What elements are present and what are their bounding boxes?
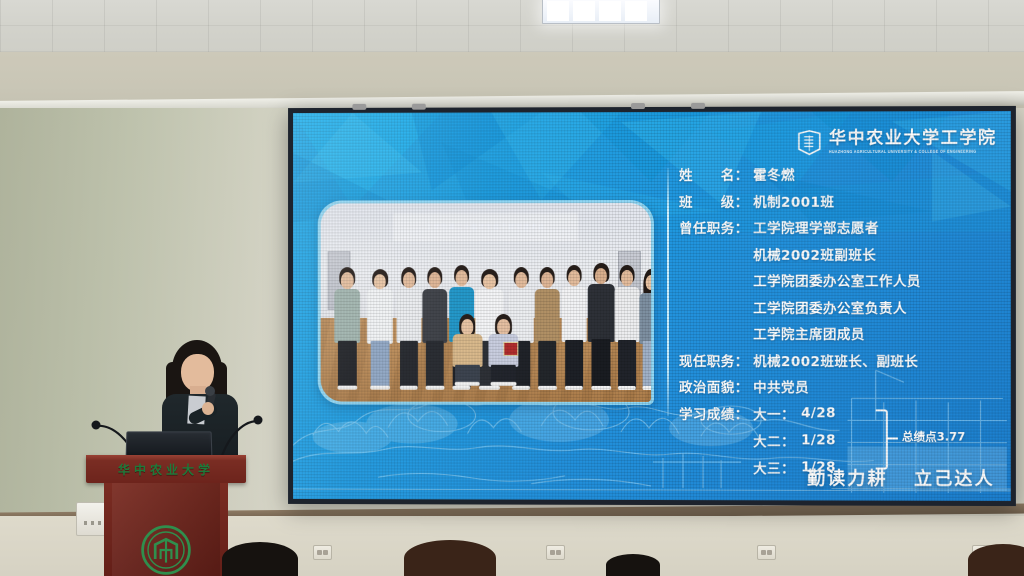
student-info-block: 姓 名： 霍冬燃 班 级： 机制2001班 曾任职务： 工学院理学部志愿者 机械… [679,163,1011,484]
value-class: 机制2001班 [753,190,834,210]
grade-year-1: 大一： [753,403,795,423]
grade-rank-1: 4/28 [801,405,836,421]
photo-person [535,267,560,390]
hzau-crest-icon [139,523,193,576]
label-political-status: 政治面貌： [679,376,753,396]
photo-banner-text: 工学院第二十届学生会干部竞选大会 [393,213,578,241]
info-row-current-role: 现任职务： 机械2002班班长、副班长 [679,350,1011,370]
screen-mount [352,104,366,110]
grade-year-2: 大二： [753,430,795,450]
photo-person [588,263,615,390]
wall-outlet [313,545,332,560]
slide-divider-line [667,168,669,416]
logo-title-en: HUAZHONG AGRICULTURAL UNIVERSITY & COLLE… [829,150,997,155]
audience-head [606,554,660,576]
motto-left: 勤读力耕 [807,468,887,489]
group-photo: 工学院第二十届学生会干部竞选大会 [321,203,651,402]
value-current-role: 机械2002班班长、副班长 [753,350,918,370]
label-class: 班 级： [679,190,753,210]
photo-person-crouching [452,314,482,385]
label-grades: 学习成绩： [679,403,753,423]
photo-award-certificate [504,342,519,356]
audience-head [968,544,1024,576]
university-logo: 华中农业大学工学院 HUAZHONG AGRICULTURAL UNIVERSI… [796,129,997,156]
university-motto: 勤读力耕 立己达人 [807,464,995,491]
motto-right: 立己达人 [914,469,995,490]
info-row-past-roles: 曾任职务： 工学院理学部志愿者 [679,217,1011,237]
book-shield-icon [796,130,822,156]
photo-person [614,265,639,390]
ceiling [0,0,1024,52]
value-past-role-5: 工学院主席团成员 [753,323,1011,343]
label-name: 姓 名： [679,164,753,184]
grades-brace [876,409,888,469]
speaker-hand [202,402,214,415]
laptop-screen [129,434,210,454]
wall-outlet [546,545,565,560]
value-name: 霍冬燃 [753,164,795,184]
lectern-university-name: 华中农业大学 [86,461,246,478]
photo-banner-caption: 工学院第二十届学生会干部竞选大会 [426,222,545,232]
logo-title-cn: 华中农业大学工学院 [829,130,997,147]
info-row-name: 姓 名： 霍冬燃 [679,163,1011,184]
info-row-class: 班 级： 机制2001班 [679,190,1011,211]
grade-year-3: 大三： [753,457,795,477]
photo-person [396,267,421,390]
projection-screen[interactable]: 华中农业大学工学院 HUAZHONG AGRICULTURAL UNIVERSI… [288,106,1016,506]
audience-head [404,540,496,576]
presentation-slide: 华中农业大学工学院 HUAZHONG AGRICULTURAL UNIVERSI… [293,111,1011,501]
screen-mount [412,104,426,110]
label-current-role: 现任职务： [679,350,753,370]
info-row-political: 政治面貌： 中共党员 [679,376,1011,396]
wall-outlet [757,545,776,560]
lectern-body [104,483,228,576]
photo-person [423,267,448,390]
microphone-head [205,386,215,396]
lectern-top: 华中农业大学 [86,455,246,483]
label-past-roles: 曾任职务： [679,217,753,237]
group-photo-card: 工学院第二十届学生会干部竞选大会 [318,200,654,405]
grade-rank-2: 1/28 [801,432,836,448]
screen-mount [691,103,705,109]
lectern-top-edge [86,455,246,460]
lecture-hall-scene: 华中农业大学工学院 HUAZHONG AGRICULTURAL UNIVERSI… [0,0,1024,576]
photo-person [639,269,651,390]
lectern-laptop[interactable] [126,431,213,456]
gpa-value: 总绩点3.77 [902,428,965,444]
value-political-status: 中共党员 [753,376,809,396]
value-past-role-4: 工学院团委办公室负责人 [753,296,1011,316]
photo-person [367,269,393,390]
grades-brace-tick [888,437,898,439]
grade-row-year1: 学习成绩： 大一： 4/28 [679,403,1011,424]
value-past-role-3: 工学院团委办公室工作人员 [753,270,1011,290]
audience-head [222,542,298,576]
ceiling-tile-grid [0,0,1024,52]
screen-mount [631,103,645,109]
ceiling-light-panel [542,0,660,24]
photo-person [561,265,586,390]
value-past-role-1: 工学院理学部志愿者 [753,217,879,237]
value-past-role-2: 机械2002班副班长 [753,243,1011,263]
photo-person [334,267,360,390]
